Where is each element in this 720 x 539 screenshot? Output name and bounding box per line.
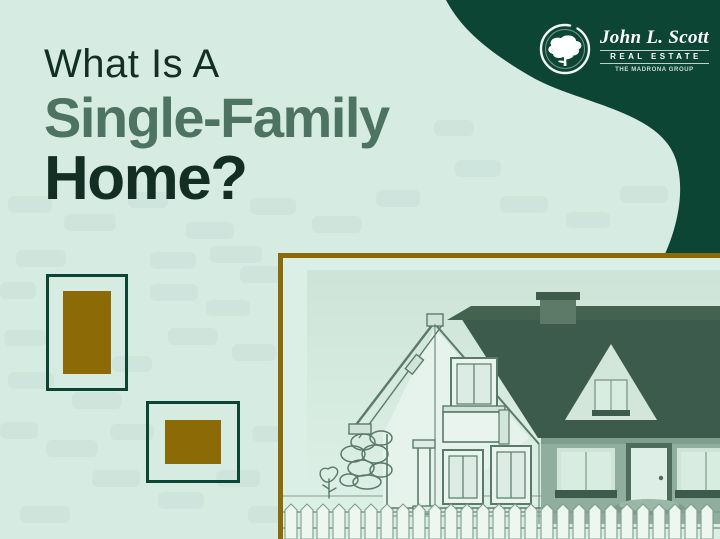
brand-group-name: THE MADRONA GROUP — [615, 67, 694, 73]
single-family-house-sketch — [283, 258, 720, 539]
brick-tile — [72, 392, 122, 409]
brick-tile — [434, 120, 474, 136]
decorative-frame-landscape — [146, 401, 240, 483]
headline-line-1: What Is A — [44, 44, 389, 84]
brick-tile — [186, 222, 234, 239]
brick-tile — [566, 212, 610, 228]
headline-line-2: Single-Family — [44, 90, 389, 146]
infographic-canvas: What Is A Single-Family Home? John — [0, 0, 720, 539]
brick-tile — [210, 246, 262, 263]
brick-tile — [312, 216, 362, 233]
brick-tile — [64, 214, 116, 231]
brand-subtitle: REAL ESTATE — [600, 50, 709, 64]
brick-tile — [46, 440, 98, 457]
headline-line-3: Home? — [44, 148, 389, 210]
brand-name: John L. Scott — [600, 28, 709, 47]
brick-tile — [4, 330, 46, 346]
brick-tile — [92, 470, 140, 487]
house-illustration-panel — [278, 253, 720, 539]
brick-tile — [150, 284, 198, 301]
brand-logo[interactable]: John L. Scott REAL ESTATE THE MADRONA GR… — [538, 22, 709, 76]
brick-tile — [232, 344, 276, 361]
brick-tile — [0, 282, 36, 299]
decorative-frame-fill — [63, 291, 111, 374]
brick-tile — [206, 300, 250, 316]
brick-tile — [16, 250, 66, 267]
brick-tile — [150, 252, 196, 269]
page-title: What Is A Single-Family Home? — [44, 44, 389, 210]
brick-tile — [20, 506, 70, 523]
brick-tile — [0, 422, 38, 439]
brick-tile — [168, 328, 218, 345]
brick-tile — [500, 196, 548, 213]
brick-tile — [620, 186, 668, 203]
brick-tile — [158, 492, 204, 509]
decorative-frame-fill — [165, 420, 221, 464]
brand-wordmark: John L. Scott REAL ESTATE THE MADRONA GR… — [600, 26, 709, 73]
decorative-frame-portrait — [46, 274, 128, 391]
brick-tile — [455, 160, 501, 177]
tree-emblem-icon — [538, 22, 592, 76]
